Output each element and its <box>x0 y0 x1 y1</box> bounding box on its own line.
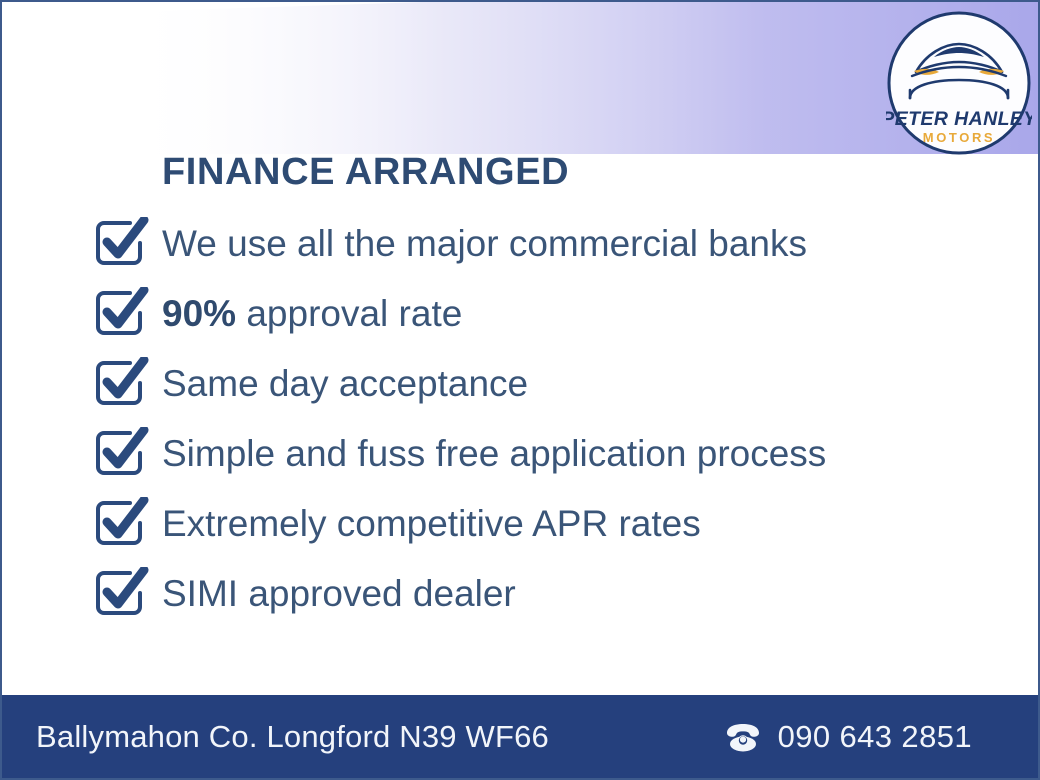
list-item: Simple and fuss free application process <box>94 418 974 488</box>
list-item-label: We use all the major commercial banks <box>162 225 807 262</box>
list-item: Extremely competitive APR rates <box>94 488 974 558</box>
checkbox-checked-icon <box>94 357 150 409</box>
logo-brand-name: PETER HANLEY <box>886 108 1032 130</box>
brand-logo: PETER HANLEY MOTORS <box>886 10 1032 156</box>
list-item-label: SIMI approved dealer <box>162 575 516 612</box>
approval-rate-value: 90% <box>162 293 236 334</box>
list-item-label: Extremely competitive APR rates <box>162 505 701 542</box>
benefits-checklist: We use all the major commercial banks 90… <box>94 208 974 628</box>
phone-number: 090 643 2851 <box>778 719 972 755</box>
list-item: 90% approval rate <box>94 278 974 348</box>
checkbox-checked-icon <box>94 287 150 339</box>
dealer-address: Ballymahon Co. Longford N39 WF66 <box>36 719 549 755</box>
logo-brand-subtitle: MOTORS <box>923 130 995 145</box>
list-item: SIMI approved dealer <box>94 558 974 628</box>
list-item-label: 90% approval rate <box>162 295 462 332</box>
contact-phone[interactable]: 090 643 2851 <box>724 719 972 755</box>
page-title: FINANCE ARRANGED <box>162 151 569 194</box>
poster-canvas: PETER HANLEY MOTORS FINANCE ARRANGED We … <box>0 0 1040 780</box>
list-item-label: Same day acceptance <box>162 365 528 402</box>
footer-bar: Ballymahon Co. Longford N39 WF66 090 643… <box>2 695 1038 778</box>
checkbox-checked-icon <box>94 427 150 479</box>
list-item: We use all the major commercial banks <box>94 208 974 278</box>
brand-logo-graphic: PETER HANLEY MOTORS <box>886 10 1032 156</box>
checkbox-checked-icon <box>94 217 150 269</box>
list-item-label: Simple and fuss free application process <box>162 435 826 472</box>
checkbox-checked-icon <box>94 567 150 619</box>
checkbox-checked-icon <box>94 497 150 549</box>
list-item: Same day acceptance <box>94 348 974 418</box>
telephone-icon <box>724 722 762 752</box>
